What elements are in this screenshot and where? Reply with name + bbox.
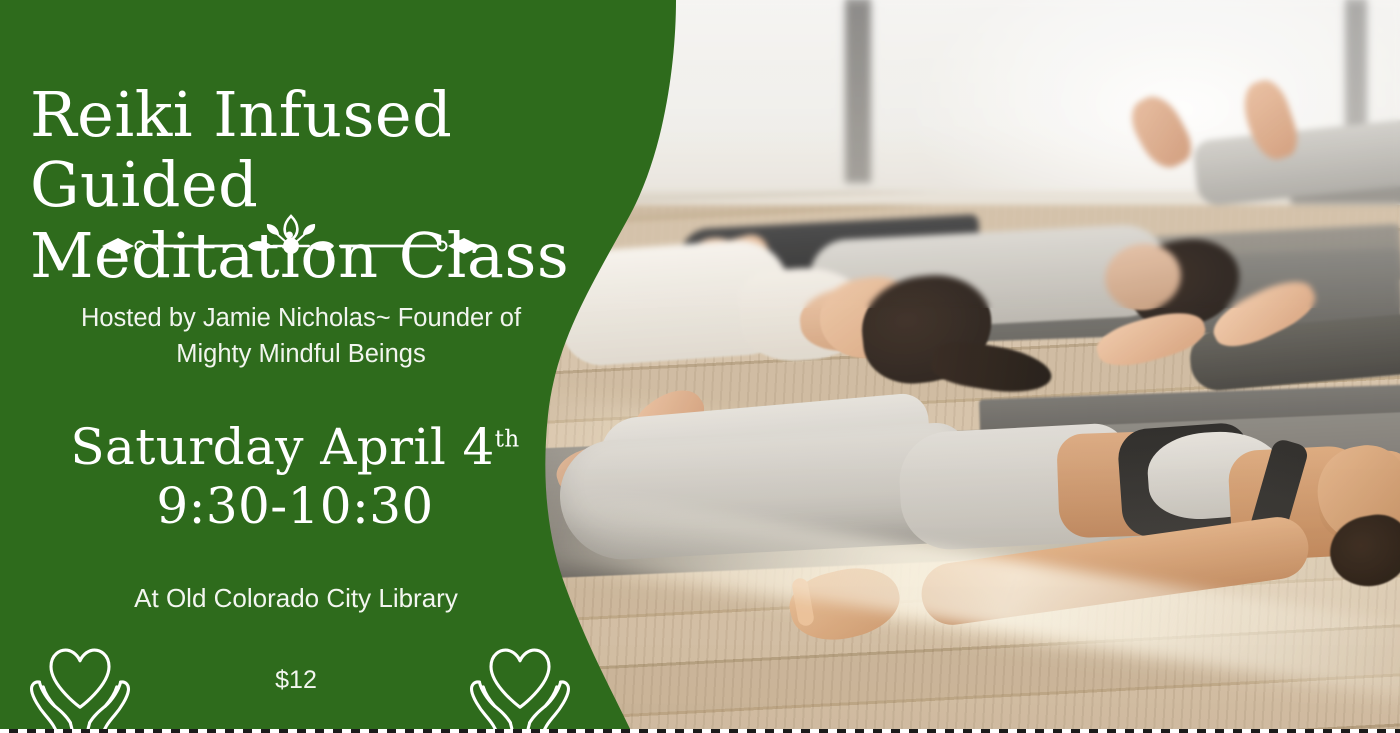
flyer-text-content: Reiki Infused Guided Meditation Class bbox=[0, 0, 600, 733]
heart-in-hands-icon bbox=[462, 626, 578, 733]
host-line-2: Mighty Mindful Beings bbox=[20, 336, 582, 372]
bottom-crop-marker bbox=[0, 729, 1400, 733]
meditation-class-flyer: Reiki Infused Guided Meditation Class bbox=[0, 0, 1400, 733]
photo-pillar bbox=[845, 0, 871, 183]
date-ordinal-suffix: th bbox=[495, 426, 520, 452]
heart-in-hands-icon bbox=[22, 626, 138, 733]
event-time: 9:30-10:30 bbox=[20, 477, 570, 536]
host-line-1: Hosted by Jamie Nicholas~ Founder of bbox=[20, 300, 582, 336]
floral-divider-ornament bbox=[96, 214, 486, 278]
event-venue: At Old Colorado City Library bbox=[20, 583, 572, 614]
host-credit: Hosted by Jamie Nicholas~ Founder of Mig… bbox=[20, 300, 582, 372]
title-line-1: Reiki Infused Guided bbox=[30, 78, 452, 222]
event-date: Saturday April 4 bbox=[70, 418, 494, 476]
event-datetime: Saturday April 4th 9:30-10:30 bbox=[20, 418, 570, 536]
